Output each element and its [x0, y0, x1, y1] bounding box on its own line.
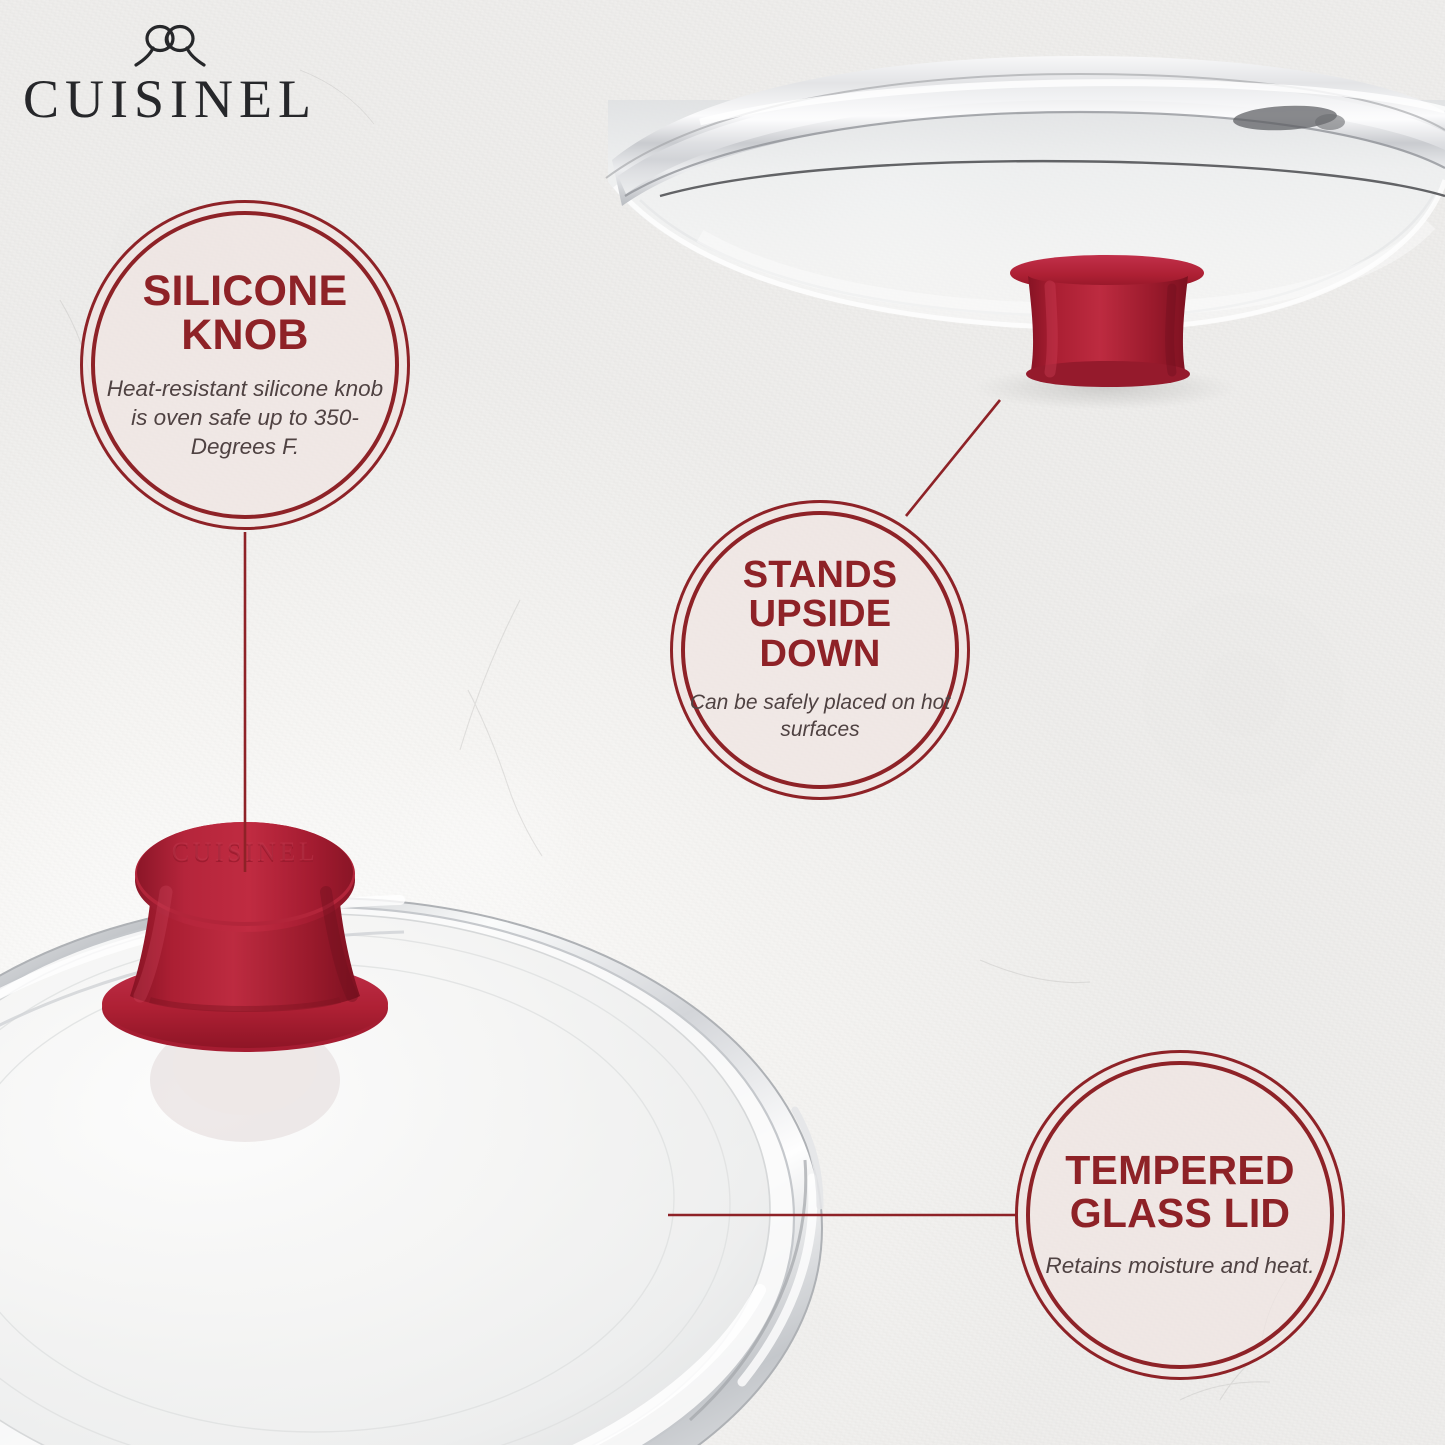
- infographic-canvas: CUISINEL CUISINEL CUI: [0, 0, 1445, 1445]
- callout-description-tempered-glass-lid: Retains moisture and heat.: [1046, 1252, 1315, 1281]
- callout-title-line: TEMPERED: [1046, 1149, 1315, 1192]
- callout-title-line: STANDS: [684, 556, 956, 596]
- brand-wordmark: CUISINEL: [20, 72, 320, 126]
- callout-description-silicone-knob: Heat-resistant silicone knob is oven saf…: [102, 375, 388, 461]
- callout-title-line: KNOB: [102, 313, 388, 358]
- callout-description-stands-upside-down: Can be safely placed on hot surfaces: [684, 690, 956, 744]
- callout-title-line: GLASS LID: [1046, 1192, 1315, 1235]
- interlocking-spoons-logo-icon: [124, 24, 216, 70]
- callout-tempered-glass-lid[interactable]: TEMPERED GLASS LID Retains moisture and …: [1015, 1050, 1345, 1380]
- callout-title-stands-upside-down: STANDS UPSIDE DOWN: [684, 556, 956, 675]
- brand-logo: CUISINEL: [20, 24, 320, 136]
- callout-title-line: SILICONE: [102, 269, 388, 314]
- callout-title-line: UPSIDE DOWN: [684, 595, 956, 674]
- callout-silicone-knob[interactable]: SILICONE KNOB Heat-resistant silicone kn…: [80, 200, 410, 530]
- callout-title-silicone-knob: SILICONE KNOB: [102, 269, 388, 358]
- callout-title-tempered-glass-lid: TEMPERED GLASS LID: [1046, 1149, 1315, 1234]
- callout-stands-upside-down[interactable]: STANDS UPSIDE DOWN Can be safely placed …: [670, 500, 970, 800]
